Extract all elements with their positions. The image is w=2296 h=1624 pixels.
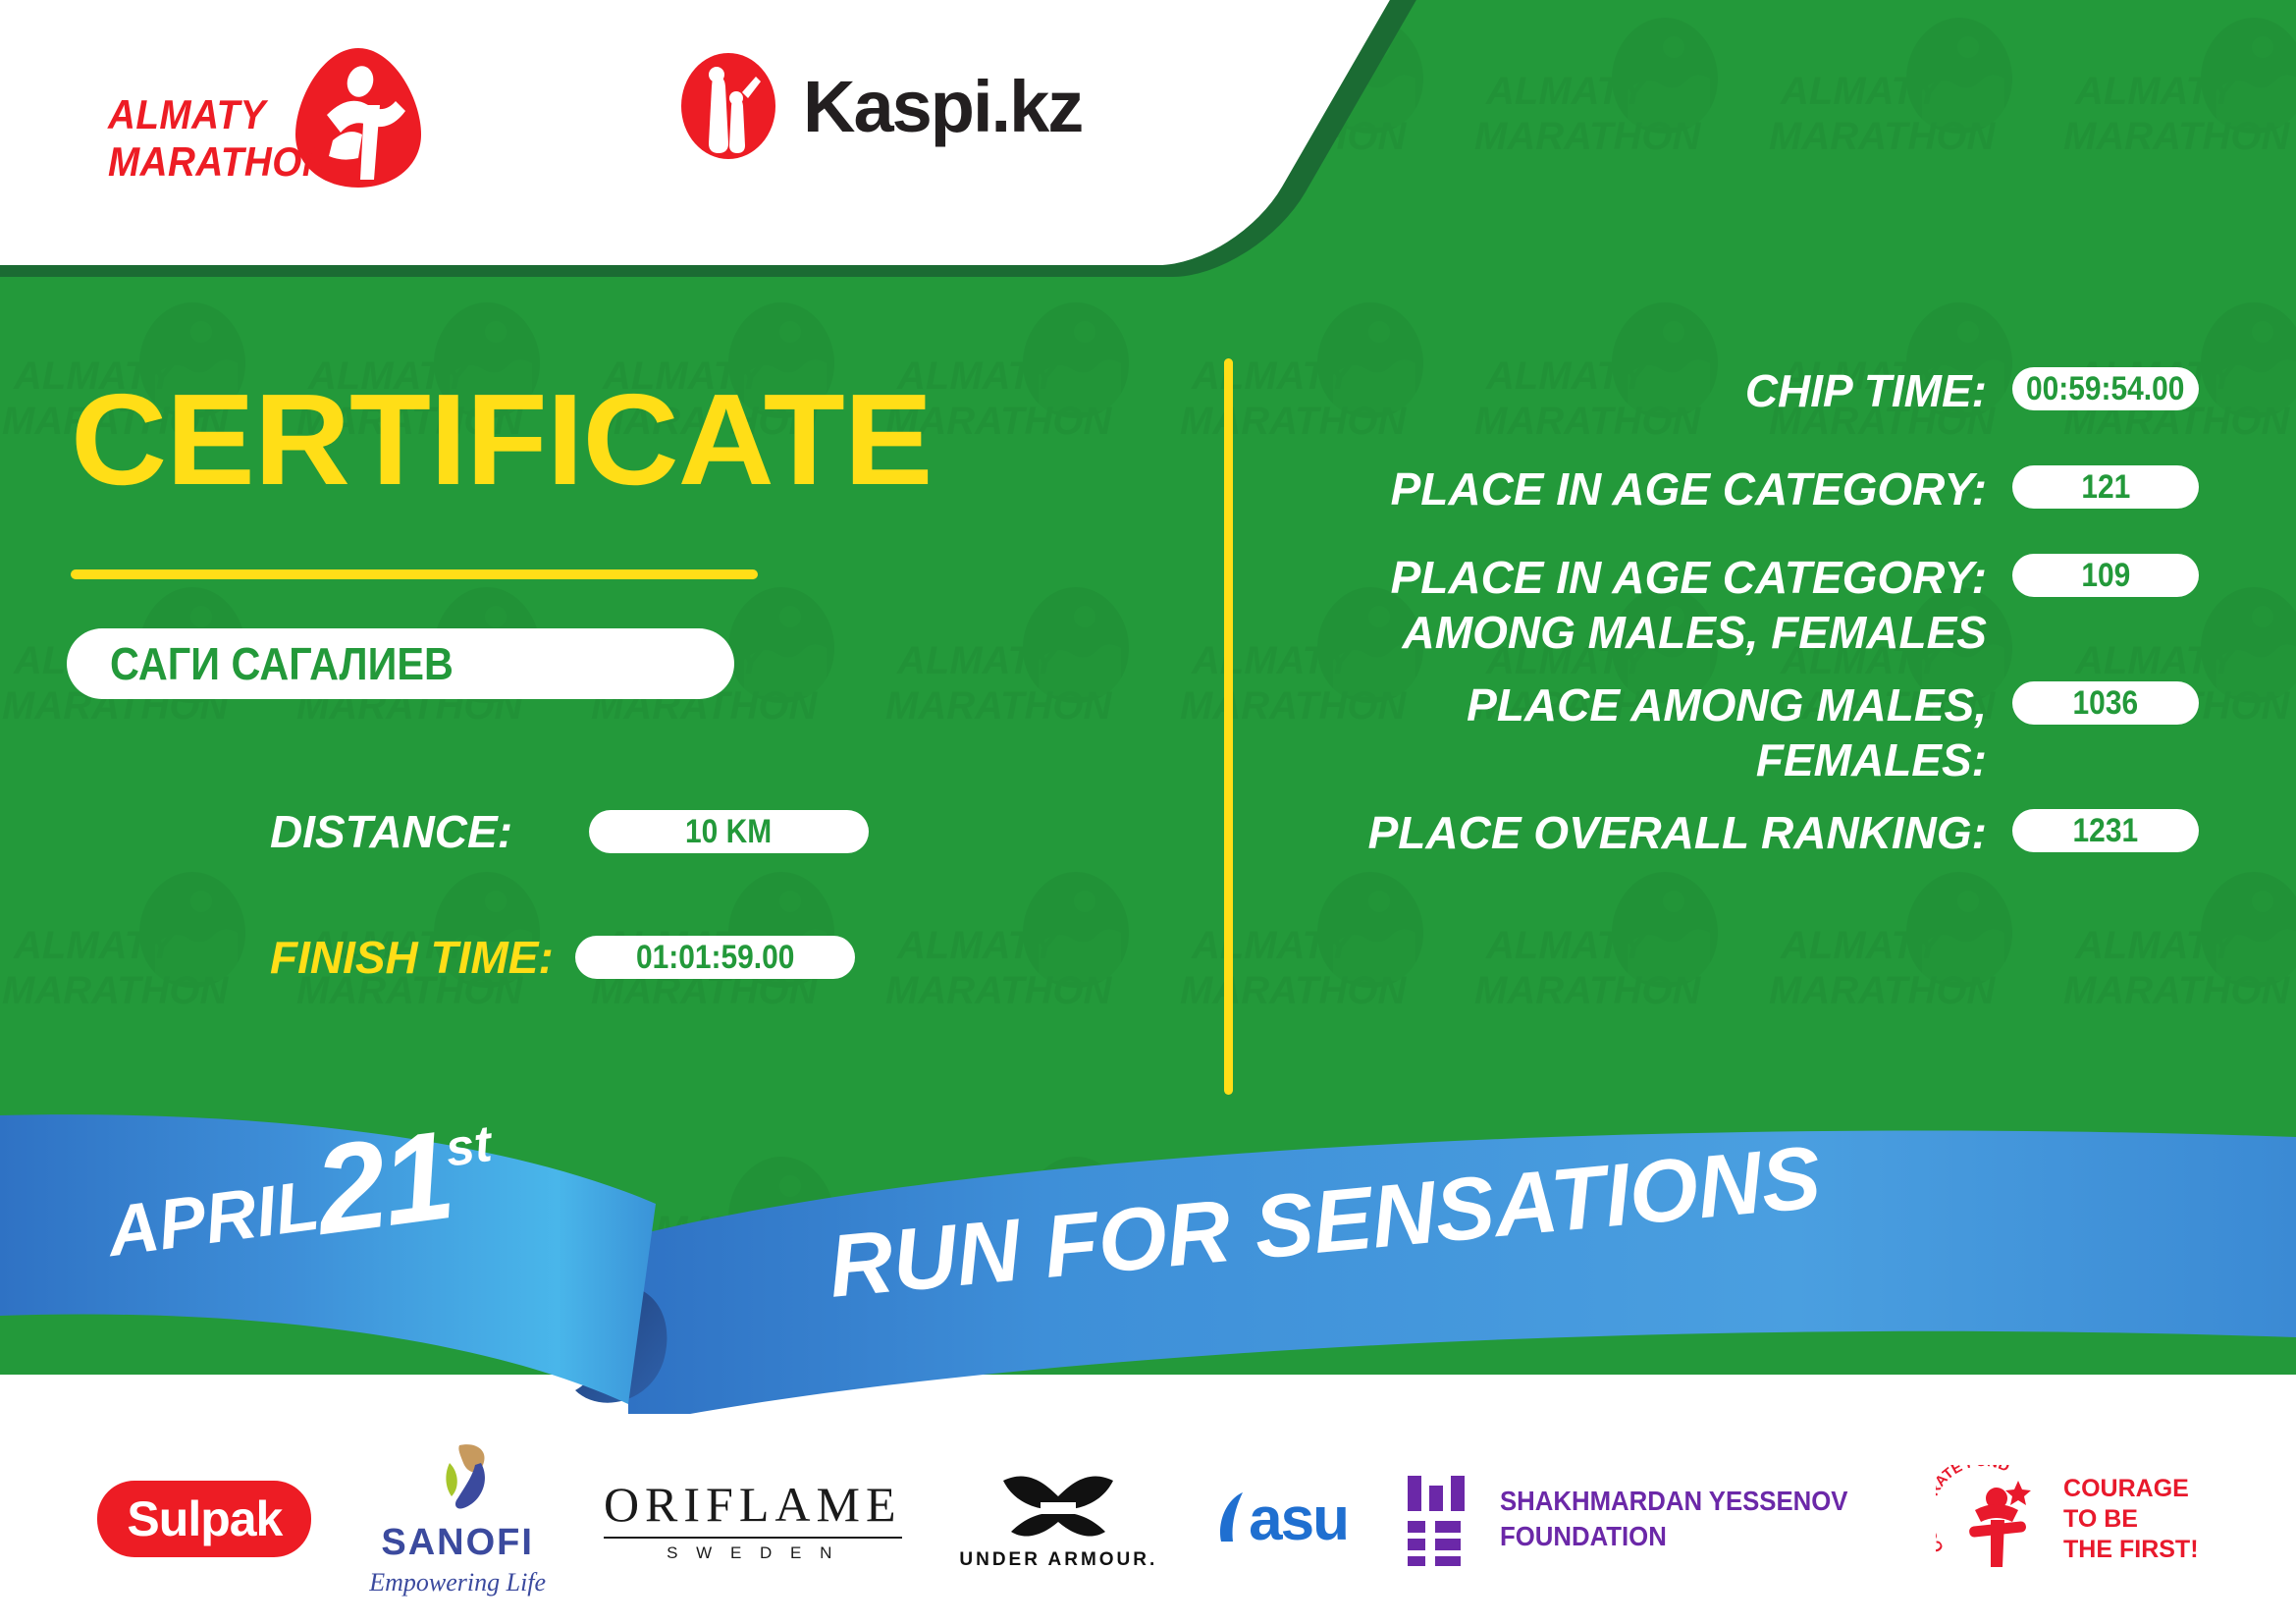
athlete-name-value: САГИ САГАЛИЕВ [110,637,454,690]
athlete-name-field: САГИ САГАЛИЕВ [67,628,734,699]
asu-swoosh-icon [1215,1489,1249,1549]
sponsor-yessenov-foundation: SHAKHMARDAN YESSENOV FOUNDATION [1406,1472,1878,1566]
ribbon-day: 21 [307,1105,458,1262]
stat-row: PLACE IN AGE CATEGORY: 121 [1276,461,2199,516]
sponsor-sulpak: Sulpak [97,1481,311,1557]
stat-row: PLACE IN AGE CATEGORY: AMONG MALES, FEMA… [1276,550,2199,660]
finish-time-value-pill: 01:01:59.00 [575,936,855,979]
sponsor-courage-fund: CORPORATE FUND COURAGE TO BE THE FIRST! [1936,1465,2199,1573]
kaspi-people-icon [675,51,781,161]
courage-fund-tagline: COURAGE TO BE THE FIRST! [2063,1474,2199,1565]
sponsor-asu: asu [1215,1485,1348,1554]
yessenov-logo-text: SHAKHMARDAN YESSENOV FOUNDATION [1500,1484,1848,1554]
finish-time-label: FINISH TIME: [270,931,554,984]
stat-row: CHIP TIME: 00:59:54.00 [1276,363,2199,418]
stat-label: CHIP TIME: [1276,363,2012,418]
stat-value: 00:59:54.00 [2026,370,2184,408]
stat-label: PLACE AMONG MALES, FEMALES: [1276,677,2012,787]
courage-fund-runner-icon: CORPORATE FUND [1936,1465,2052,1573]
stat-label: PLACE IN AGE CATEGORY: [1276,461,2012,516]
oriflame-tagline: S W E D E N [604,1537,902,1563]
sanofi-mark-icon [412,1441,503,1518]
distance-label: DISTANCE: [270,805,512,858]
page-title: CERTIFICATE [71,375,932,505]
ribbon-month: APRIL [103,1166,324,1272]
title-divider [71,569,758,579]
sulpak-logo-text: Sulpak [97,1481,311,1557]
distance-row: DISTANCE: 10 KM [270,805,869,858]
sponsor-sanofi: SANOFI Empowering Life [369,1441,546,1597]
stat-row: PLACE AMONG MALES, FEMALES: 1036 [1276,677,2199,787]
kaspi-logo: Kaspi.kz [675,51,1082,161]
ribbon-day-suffix: st [443,1115,495,1178]
yessenov-bars-icon [1406,1472,1478,1566]
sponsor-under-armour: UNDER ARMOUR. [959,1467,1157,1571]
stat-value: 121 [2081,468,2130,507]
stat-value-pill: 00:59:54.00 [2012,367,2199,410]
sponsor-bar: Sulpak SANOFI Empowering Life ORIFLAME S… [0,1414,2296,1624]
asu-logo-text: asu [1249,1485,1348,1554]
oriflame-logo-text: ORIFLAME [604,1476,902,1533]
stat-value: 1036 [2073,684,2139,723]
stat-value-pill: 1036 [2012,681,2199,725]
stat-value: 1231 [2073,812,2139,850]
sanofi-logo-text: SANOFI [369,1522,546,1564]
vertical-divider [1224,358,1233,1095]
stat-row: PLACE OVERALL RANKING: 1231 [1276,805,2199,860]
certificate-root: ALMATY MARATHON ALMATY MARATHON [0,0,2296,1624]
stat-label: PLACE OVERALL RANKING: [1276,805,2012,860]
almaty-marathon-logo: ALMATY MARATHON [108,44,432,182]
almaty-marathon-logo-text: ALMATY MARATHON [108,91,330,186]
stat-value-pill: 109 [2012,554,2199,597]
stat-value-pill: 121 [2012,465,2199,509]
finish-time-row: FINISH TIME: 01:01:59.00 [270,931,855,984]
distance-value: 10 KM [685,813,772,851]
stat-label: PLACE IN AGE CATEGORY: AMONG MALES, FEMA… [1276,550,2012,660]
distance-value-pill: 10 KM [589,810,869,853]
under-armour-icon [993,1467,1123,1543]
sanofi-tagline: Empowering Life [369,1568,546,1597]
stat-value-pill: 1231 [2012,809,2199,852]
stat-value: 109 [2081,557,2130,595]
kaspi-logo-text: Kaspi.kz [803,65,1082,148]
under-armour-logo-text: UNDER ARMOUR. [959,1549,1157,1571]
finish-time-value: 01:01:59.00 [636,939,794,977]
sponsor-oriflame: ORIFLAME S W E D E N [604,1476,902,1563]
